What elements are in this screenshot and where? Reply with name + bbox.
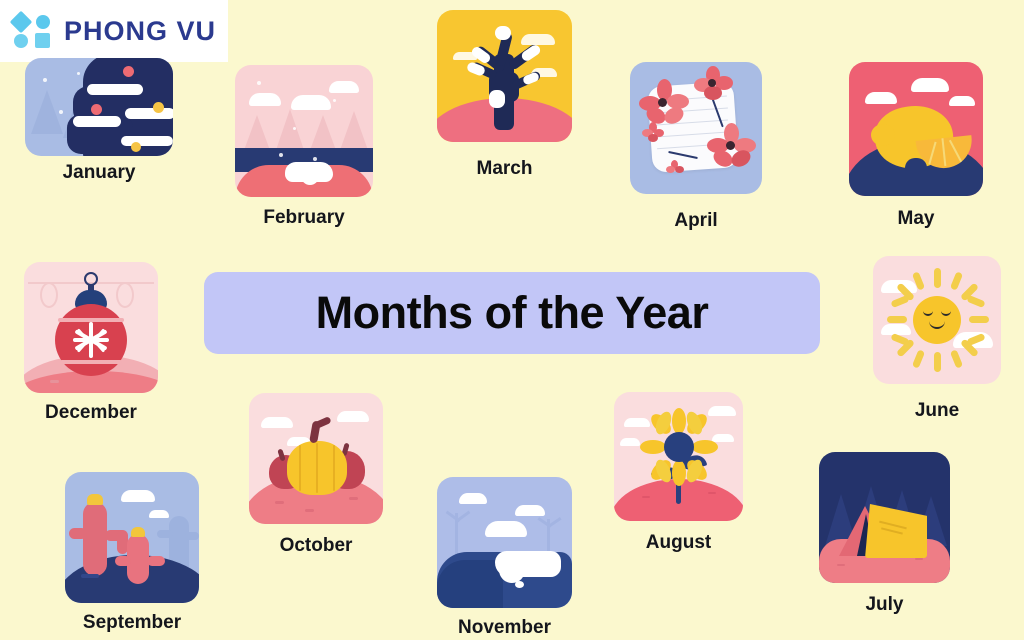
month-card-august[interactable]: August bbox=[614, 392, 743, 521]
december-illustration bbox=[24, 262, 158, 393]
month-card-november[interactable]: November bbox=[437, 477, 572, 608]
month-label-july: July bbox=[865, 594, 903, 616]
april-illustration bbox=[630, 62, 762, 194]
month-card-april[interactable]: April bbox=[630, 62, 762, 194]
month-label-may: May bbox=[898, 208, 935, 230]
august-illustration bbox=[614, 392, 743, 521]
month-label-january: January bbox=[63, 162, 136, 184]
march-illustration bbox=[437, 10, 572, 142]
four-shapes-logo-icon bbox=[12, 12, 54, 50]
page-title: Months of the Year bbox=[316, 287, 709, 339]
logo-circle-bottom-left-shape bbox=[14, 34, 28, 48]
logo-circle-top-right-shape bbox=[36, 15, 50, 29]
month-card-october[interactable]: October bbox=[249, 393, 383, 524]
month-label-october: October bbox=[280, 535, 353, 557]
month-card-june[interactable]: June bbox=[873, 256, 1001, 384]
month-card-march[interactable]: March bbox=[437, 10, 572, 142]
page-title-banner: Months of the Year bbox=[204, 272, 820, 354]
month-label-march: March bbox=[477, 158, 533, 180]
january-illustration bbox=[25, 58, 173, 156]
may-illustration bbox=[849, 62, 983, 196]
month-label-november: November bbox=[458, 617, 551, 639]
february-illustration bbox=[235, 65, 373, 197]
month-card-february[interactable]: February bbox=[235, 65, 373, 197]
month-label-december: December bbox=[45, 402, 137, 424]
month-label-june: June bbox=[915, 400, 959, 422]
month-card-july[interactable]: July bbox=[819, 452, 950, 583]
month-label-february: February bbox=[263, 207, 344, 229]
november-illustration bbox=[437, 477, 572, 608]
month-card-may[interactable]: May bbox=[849, 62, 983, 196]
october-illustration bbox=[249, 393, 383, 524]
logo-square-shape bbox=[35, 33, 50, 48]
june-illustration bbox=[873, 256, 1001, 384]
month-label-august: August bbox=[646, 532, 711, 554]
month-card-december[interactable]: December bbox=[24, 262, 158, 393]
month-label-april: April bbox=[674, 210, 717, 232]
brand-logo[interactable]: PHONG VU bbox=[0, 0, 228, 62]
month-card-january[interactable]: January bbox=[25, 58, 173, 156]
month-card-september[interactable]: September bbox=[65, 472, 199, 603]
brand-name: PHONG VU bbox=[64, 16, 216, 47]
september-illustration bbox=[65, 472, 199, 603]
logo-diamond-shape bbox=[10, 11, 33, 34]
july-illustration bbox=[819, 452, 950, 583]
infographic-canvas: PHONG VU Months of the Year bbox=[0, 0, 1024, 640]
month-label-september: September bbox=[83, 612, 181, 634]
